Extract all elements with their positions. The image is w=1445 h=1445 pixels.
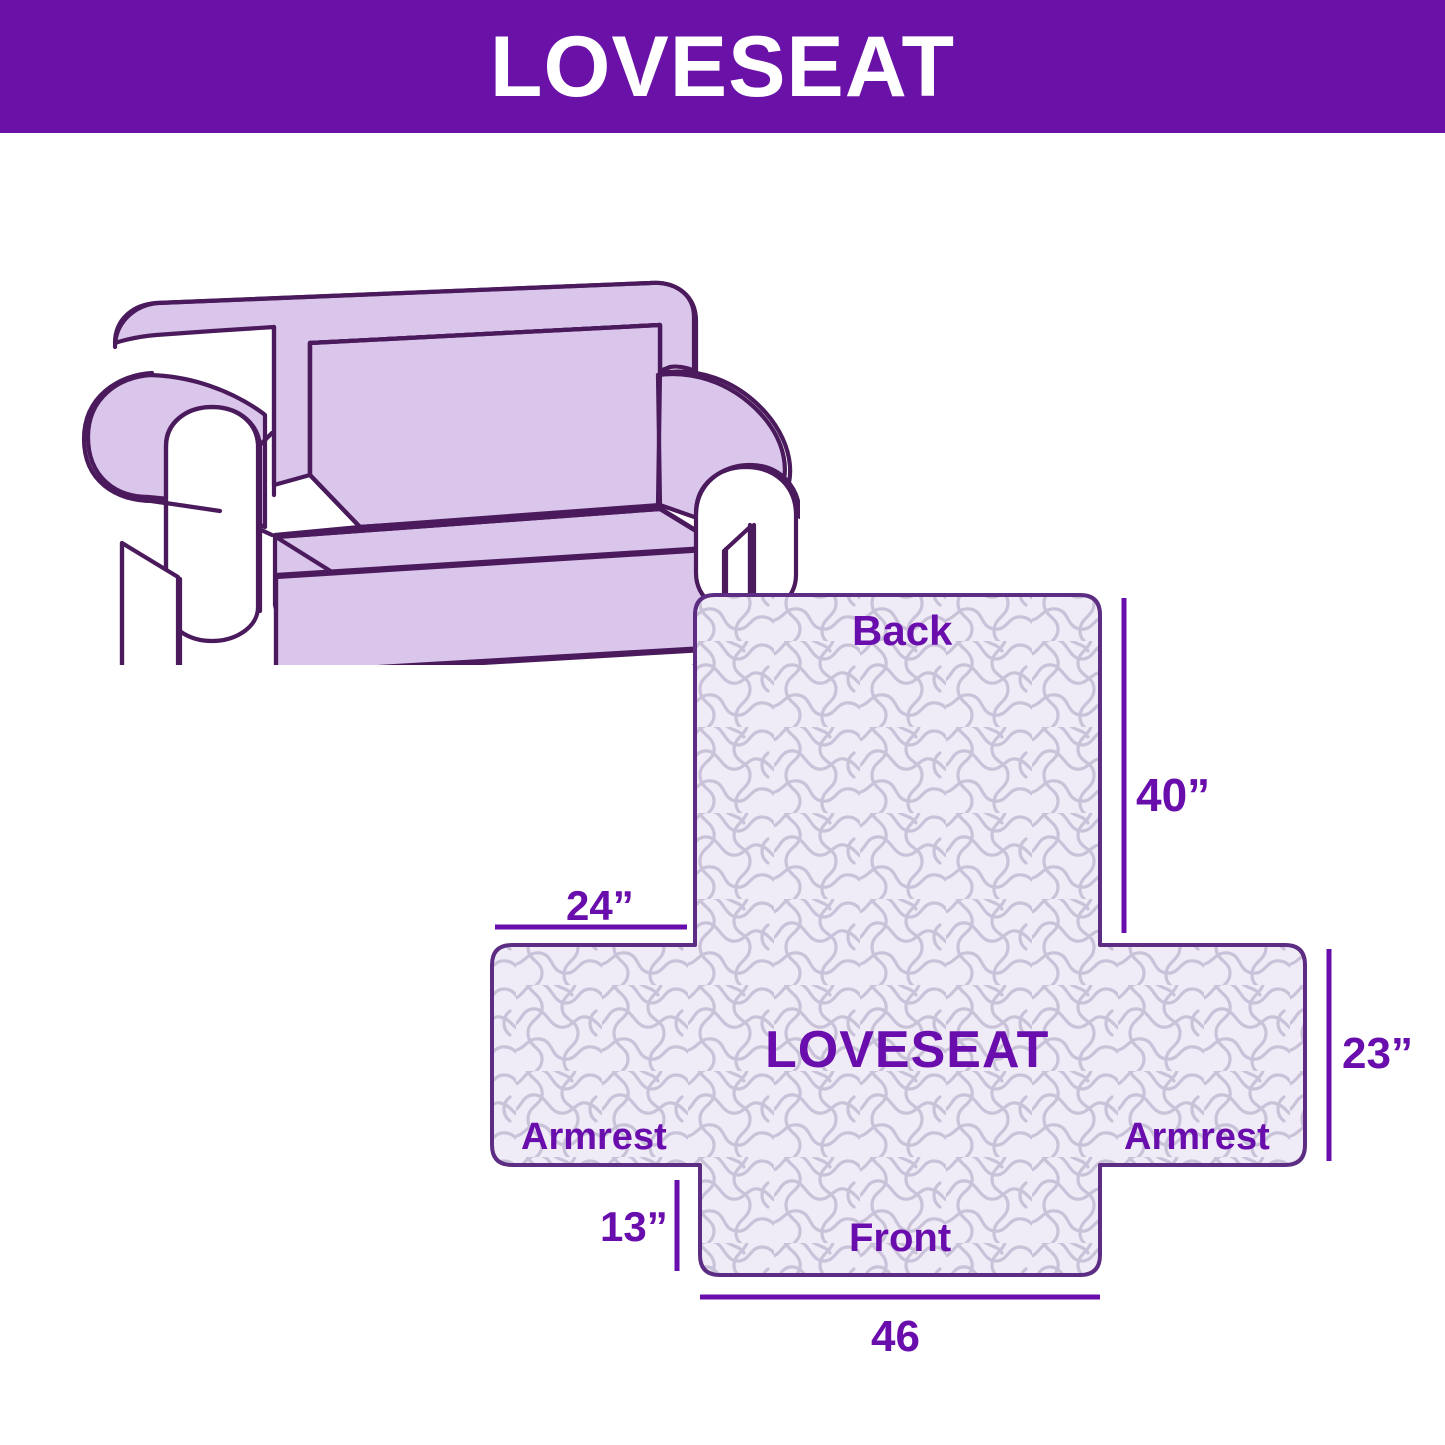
- dimension-label-front-drop: 13”: [600, 1206, 668, 1248]
- header-banner: LOVESEAT: [0, 0, 1445, 133]
- panel-label-armrest-left: Armrest: [521, 1118, 667, 1156]
- dimension-label-back-height: 40”: [1136, 772, 1210, 818]
- panel-label-center: LOVESEAT: [765, 1024, 1049, 1076]
- dimension-label-front-width: 46: [871, 1315, 920, 1359]
- page-title: LOVESEAT: [490, 24, 955, 110]
- panel-label-front: Front: [849, 1218, 951, 1258]
- panel-label-back: Back: [852, 610, 952, 652]
- dimension-label-armrest-height: 23”: [1342, 1032, 1413, 1076]
- panel-label-armrest-right: Armrest: [1124, 1118, 1270, 1156]
- product-dimension-diagram: LOVESEAT: [0, 0, 1445, 1445]
- dimension-label-back-offset: 24”: [566, 885, 634, 927]
- cover-outline-path: [492, 595, 1305, 1275]
